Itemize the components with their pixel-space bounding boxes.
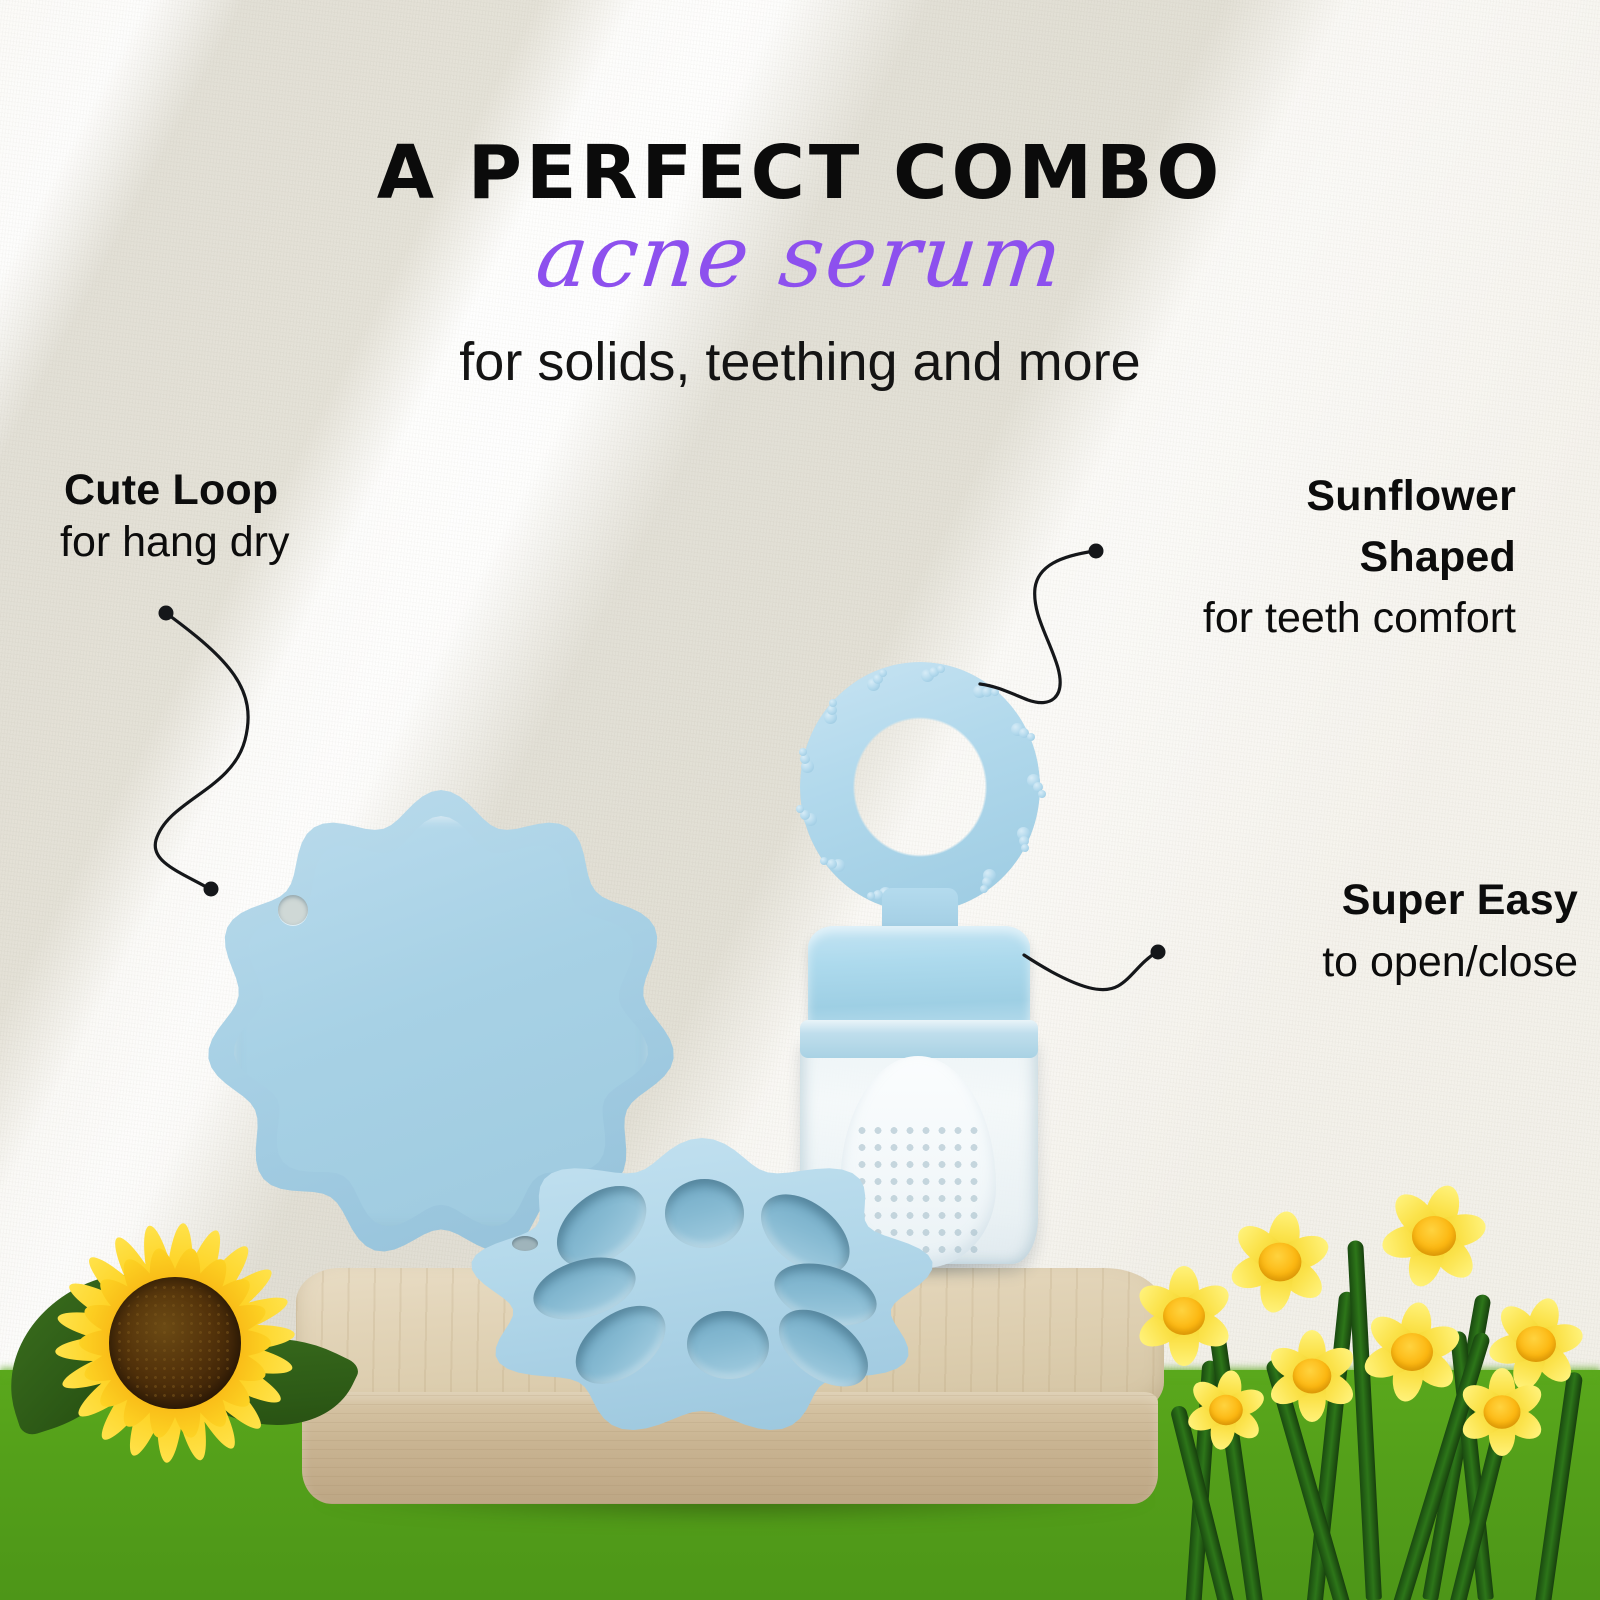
teether-nub [1027, 733, 1035, 741]
daffodil-flower [1262, 1326, 1361, 1425]
daffodil-flower [1225, 1207, 1335, 1317]
tray-cavity [665, 1179, 745, 1248]
teether-nub [827, 859, 837, 869]
infographic-canvas: A PERFECT COMBO acne serum for solids, t… [0, 0, 1600, 1600]
lid-hang-hole [278, 895, 308, 925]
daffodil-flower [1183, 1367, 1269, 1453]
callout-super-easy-sub: to open/close [938, 938, 1578, 987]
callout-cute-loop-heading: Cute Loop [64, 466, 289, 514]
daffodil-flower [1130, 1262, 1238, 1370]
teether-nub [1021, 844, 1029, 852]
tray-hang-hole [512, 1236, 538, 1251]
daffodil-corona-cup [1259, 1243, 1302, 1282]
teether-nub [1038, 790, 1046, 798]
callout-sunflower-sub: for teeth comfort [876, 594, 1516, 643]
daffodil-corona-cup [1391, 1333, 1433, 1371]
daffodil-corona-cup [1293, 1359, 1332, 1394]
callout-sunflower-heading-line2: Shaped [876, 527, 1516, 588]
callout-cute-loop: Cute Loop for hang dry [60, 466, 289, 568]
tagline: for solids, teething and more [0, 333, 1600, 392]
daffodil-flower [1454, 1364, 1549, 1459]
callout-sunflower-shaped: Sunflower Shaped for teeth comfort [876, 466, 1516, 644]
callout-super-easy: Super Easy to open/close [938, 876, 1578, 988]
page-title: A PERFECT COMBO [0, 136, 1600, 210]
daffodil-corona-cup [1209, 1395, 1243, 1425]
daffodil-flower [1377, 1179, 1490, 1292]
sunflower-teether-ring [800, 662, 1040, 912]
feeder-collar [800, 1020, 1038, 1058]
daffodil-corona-cup [1516, 1326, 1556, 1362]
sunflower-center-disc [109, 1277, 241, 1409]
daffodil-cluster [1130, 1170, 1600, 1600]
daffodil-flower [1358, 1298, 1466, 1406]
daffodil-corona-cup [1484, 1395, 1521, 1428]
freezer-tray [468, 1138, 936, 1438]
callout-sunflower-heading-line1: Sunflower [876, 466, 1516, 527]
callout-cute-loop-sub: for hang dry [60, 518, 289, 567]
script-subtitle: acne serum [0, 214, 1600, 300]
sunflower-flower [10, 1178, 340, 1508]
daffodil-corona-cup [1412, 1216, 1456, 1256]
teether-nub [867, 892, 875, 900]
callout-super-easy-heading: Super Easy [938, 876, 1578, 924]
daffodil-corona-cup [1163, 1297, 1205, 1335]
